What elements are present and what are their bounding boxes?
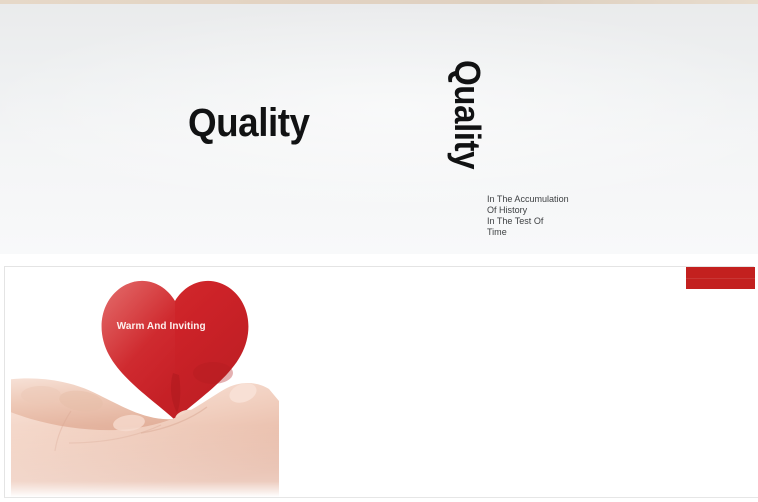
banner-red-accent xyxy=(686,267,755,289)
sincerity-section: Integrity As The Core, Starting From Cus… xyxy=(4,266,754,498)
quality-vertical-headline-wrap: Quality xyxy=(462,60,508,180)
banner-sheen-overlay xyxy=(0,4,758,254)
page-root: Quality Quality In The Accumulation Of H… xyxy=(0,0,758,502)
quality-subtext-line-1: In The Accumulation xyxy=(487,194,611,205)
quality-subtext-line-4: Time xyxy=(487,227,611,238)
quality-subtext-block: In The Accumulation Of History In The Te… xyxy=(487,194,611,238)
quality-headline: Quality xyxy=(188,103,310,143)
bottom-hairline xyxy=(4,497,758,498)
quality-subtext-line-2: Of History xyxy=(487,205,611,216)
quality-vertical-headline: Quality xyxy=(450,60,485,169)
heart-label: Warm And Inviting xyxy=(108,320,214,332)
section-divider-gap xyxy=(0,254,758,265)
quality-subtext-line-3: In The Test Of xyxy=(487,216,611,227)
heart-in-hands-artwork xyxy=(11,267,281,497)
hands-illustration xyxy=(11,367,279,497)
quality-banner-section: Quality Quality In The Accumulation Of H… xyxy=(0,4,758,254)
sincerity-section-inner: Integrity As The Core, Starting From Cus… xyxy=(5,267,755,497)
banner-accent-line xyxy=(686,278,755,279)
